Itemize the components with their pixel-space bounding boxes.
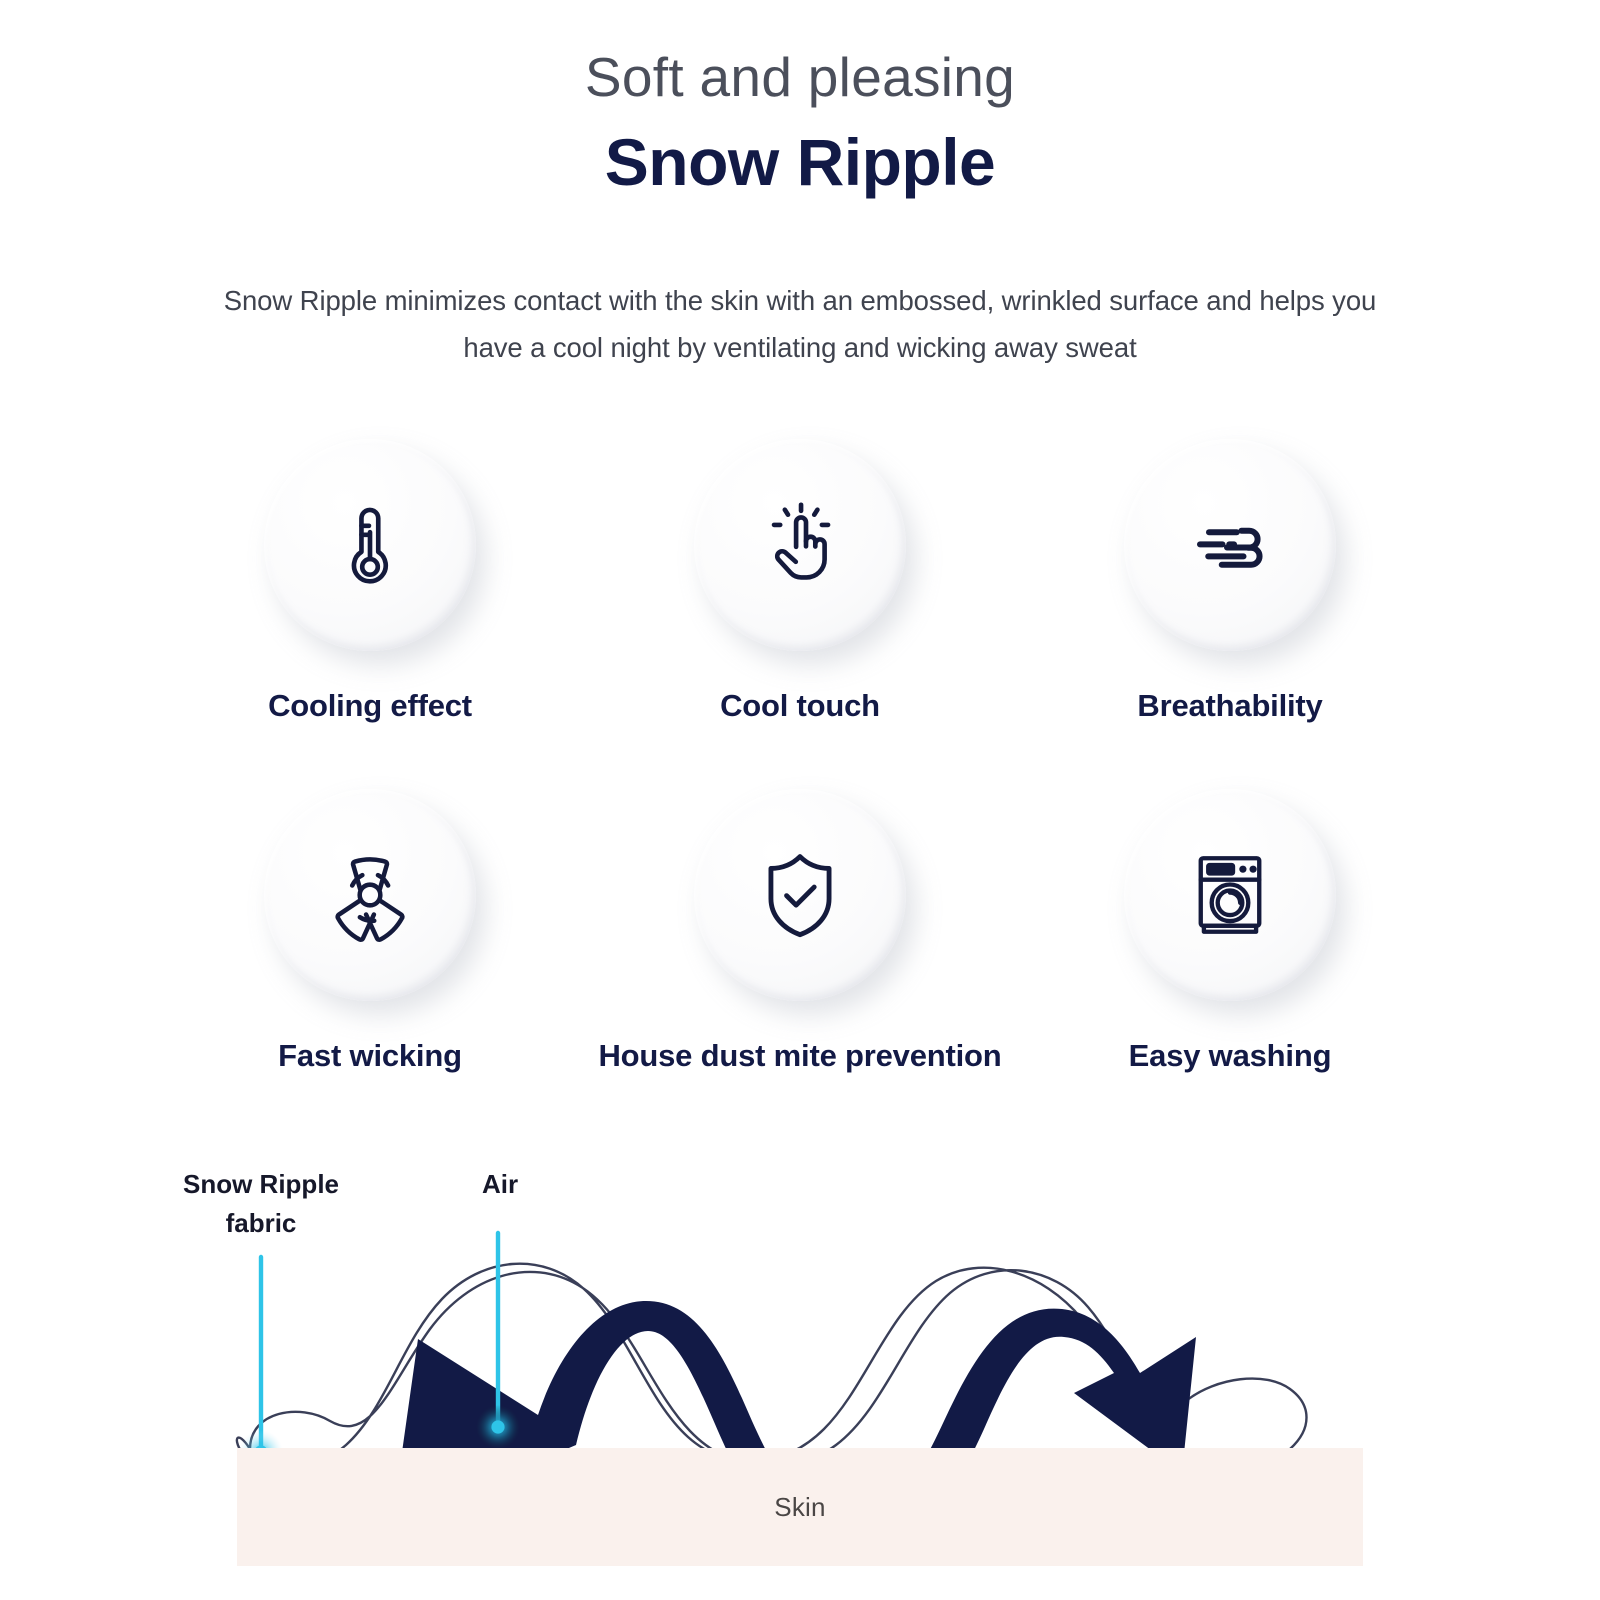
tap-hand-icon <box>752 497 848 593</box>
feature-label: House dust mite prevention <box>598 1038 1001 1074</box>
page-header: Soft and pleasing Snow Ripple Snow Rippl… <box>0 0 1600 371</box>
feature-label: Cool touch <box>720 688 880 724</box>
feature-badge <box>1124 789 1336 1001</box>
fan-blades-icon <box>320 845 420 945</box>
feature-item-easy-washing[interactable]: Easy washing <box>1015 771 1445 1121</box>
feature-label: Breathability <box>1137 688 1322 724</box>
feature-label: Cooling effect <box>268 688 472 724</box>
wind-icon <box>1182 497 1278 593</box>
feature-item-fast-wicking[interactable]: Fast wicking <box>155 771 585 1121</box>
feature-badge <box>694 439 906 651</box>
feature-item-cooling-effect[interactable]: Cooling effect <box>155 421 585 771</box>
skin-layer-bar: Skin <box>237 1448 1363 1566</box>
feature-grid: Cooling effect Cool touch <box>155 421 1445 1121</box>
feature-badge <box>1124 439 1336 651</box>
feature-label: Fast wicking <box>278 1038 462 1074</box>
feature-item-cool-touch[interactable]: Cool touch <box>585 421 1015 771</box>
feature-label: Easy washing <box>1129 1038 1332 1074</box>
washing-machine-icon <box>1182 847 1278 943</box>
shield-check-icon <box>750 845 850 945</box>
leader-line-fabric <box>239 1257 283 1474</box>
skin-label: Skin <box>774 1492 825 1523</box>
page-title: Snow Ripple <box>0 125 1600 201</box>
feature-badge <box>264 439 476 651</box>
page-description: Snow Ripple minimizes contact with the s… <box>210 277 1390 372</box>
feature-badge <box>694 789 906 1001</box>
feature-badge <box>264 789 476 1001</box>
thermometer-icon <box>322 497 418 593</box>
eyebrow-text: Soft and pleasing <box>0 46 1600 109</box>
feature-item-dust-mite-prevention[interactable]: House dust mite prevention <box>585 771 1015 1121</box>
feature-item-breathability[interactable]: Breathability <box>1015 421 1445 771</box>
